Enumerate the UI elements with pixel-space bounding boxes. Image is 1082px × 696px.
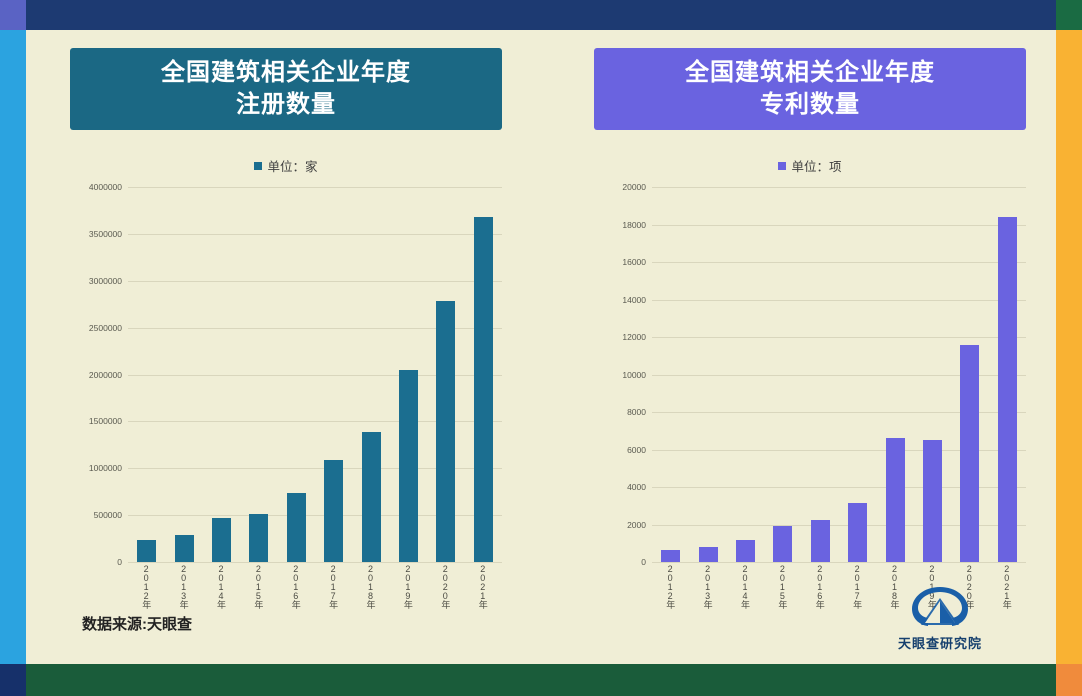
- border-left: [0, 30, 26, 664]
- legend-label: 单位：项: [791, 156, 841, 175]
- bar-slot[interactable]: [915, 187, 950, 562]
- bar-slot[interactable]: [204, 187, 239, 562]
- legend-label: 单位：家: [267, 156, 317, 175]
- corner-bottom-left: [0, 664, 26, 696]
- x-axis-label-slot: 2012年: [653, 564, 688, 622]
- y-axis-tick-label: 0: [117, 557, 122, 567]
- bar-slot[interactable]: [952, 187, 987, 562]
- chart-panel-registrations: 全国建筑相关企业年度 注册数量 单位：家 0500000100000015000…: [70, 48, 502, 648]
- y-axis-tick-label: 4000000: [89, 182, 122, 192]
- x-axis-label-slot: 2020年: [428, 564, 463, 622]
- panel-title-line1: 全国建筑相关企业年度: [161, 57, 411, 89]
- infographic-page: 全国建筑相关企业年度 注册数量 单位：家 0500000100000015000…: [0, 0, 1082, 696]
- y-axis-tick-label: 1500000: [89, 416, 122, 426]
- bar-slot[interactable]: [840, 187, 875, 562]
- bar[interactable]: [212, 518, 231, 562]
- legend-swatch-icon: [778, 162, 786, 170]
- bar[interactable]: [436, 301, 455, 562]
- bar[interactable]: [474, 217, 493, 562]
- gridline: [652, 562, 1026, 563]
- border-top: [0, 0, 1082, 30]
- y-axis-tick-label: 4000: [627, 482, 646, 492]
- y-axis-tick-label: 2000: [627, 520, 646, 530]
- y-axis-tick-label: 2500000: [89, 323, 122, 333]
- plot-area-registrations: 0500000100000015000002000000250000030000…: [70, 187, 502, 572]
- x-axis-label-slot: 2015年: [241, 564, 276, 622]
- x-axis-tick-label: 2017年: [327, 564, 340, 622]
- y-axis-tick-label: 1000000: [89, 463, 122, 473]
- logo: 天眼查研究院: [880, 585, 1000, 652]
- y-axis-tick-label: 10000: [622, 370, 646, 380]
- panel-title-line2: 注册数量: [161, 89, 411, 121]
- y-axis-tick-label: 3500000: [89, 229, 122, 239]
- bar[interactable]: [362, 432, 381, 562]
- bar[interactable]: [399, 370, 418, 562]
- logo-text: 天眼查研究院: [898, 633, 982, 652]
- x-axis-label-slot: 2019年: [391, 564, 426, 622]
- source-note: 数据来源:天眼查: [82, 613, 192, 634]
- bar-series-registrations: [128, 187, 502, 562]
- bar-slot[interactable]: [316, 187, 351, 562]
- x-axis-tick-label: 2016年: [814, 564, 827, 622]
- x-axis-tick-label: 2020年: [439, 564, 452, 622]
- border-bottom: [0, 664, 1082, 696]
- y-axis-labels-registrations: 0500000100000015000002000000250000030000…: [70, 187, 126, 562]
- corner-top-right: [1056, 0, 1082, 30]
- y-axis-tick-label: 0: [641, 557, 646, 567]
- bar-slot[interactable]: [728, 187, 763, 562]
- bar[interactable]: [249, 514, 268, 562]
- bar[interactable]: [287, 493, 306, 562]
- legend-swatch-icon: [254, 162, 262, 170]
- x-axis-label-slot: 2018年: [353, 564, 388, 622]
- y-axis-tick-label: 6000: [627, 445, 646, 455]
- bar[interactable]: [811, 520, 830, 562]
- x-axis-tick-label: 2019年: [402, 564, 415, 622]
- bar-slot[interactable]: [765, 187, 800, 562]
- x-axis-label-slot: 2021年: [466, 564, 501, 622]
- x-axis-tick-label: 2014年: [739, 564, 752, 622]
- panel-title-registrations: 全国建筑相关企业年度 注册数量: [70, 48, 502, 130]
- x-axis-tick-label: 2018年: [365, 564, 378, 622]
- chart-panel-patents: 全国建筑相关企业年度 专利数量 单位：项 0200040006000800010…: [594, 48, 1026, 648]
- x-axis-label-slot: 2014年: [728, 564, 763, 622]
- bar-series-patents: [652, 187, 1026, 562]
- bar[interactable]: [137, 540, 156, 562]
- content-canvas: 全国建筑相关企业年度 注册数量 单位：家 0500000100000015000…: [26, 30, 1056, 664]
- y-axis-tick-label: 3000000: [89, 276, 122, 286]
- bar[interactable]: [886, 438, 905, 562]
- bar[interactable]: [175, 535, 194, 562]
- y-axis-tick-label: 18000: [622, 220, 646, 230]
- border-right: [1056, 30, 1082, 664]
- bar[interactable]: [699, 547, 718, 562]
- y-axis-tick-label: 8000: [627, 407, 646, 417]
- x-axis-tick-label: 2021年: [477, 564, 490, 622]
- bar-slot[interactable]: [167, 187, 202, 562]
- corner-bottom-right: [1056, 664, 1082, 696]
- bar-slot[interactable]: [990, 187, 1025, 562]
- bar[interactable]: [773, 526, 792, 562]
- bar-slot[interactable]: [653, 187, 688, 562]
- panel-title-patents: 全国建筑相关企业年度 专利数量: [594, 48, 1026, 130]
- x-axis-label-slot: 2014年: [204, 564, 239, 622]
- bar[interactable]: [923, 440, 942, 562]
- x-axis-tick-label: 2021年: [1001, 564, 1014, 622]
- x-axis-tick-label: 2017年: [851, 564, 864, 622]
- x-axis-tick-label: 2012年: [664, 564, 677, 622]
- gridline: [128, 562, 502, 563]
- y-axis-tick-label: 20000: [622, 182, 646, 192]
- x-axis-label-slot: 2016年: [803, 564, 838, 622]
- chart-legend-registrations: 单位：家: [70, 156, 502, 175]
- bar-slot[interactable]: [129, 187, 164, 562]
- x-axis-tick-label: 2016年: [290, 564, 303, 622]
- bar-slot[interactable]: [241, 187, 276, 562]
- corner-top-left: [0, 0, 26, 30]
- bar[interactable]: [960, 345, 979, 563]
- x-axis-tick-label: 2013年: [702, 564, 715, 622]
- plot-area-patents: 0200040006000800010000120001400016000180…: [594, 187, 1026, 572]
- x-axis-label-slot: 2015年: [765, 564, 800, 622]
- bar[interactable]: [324, 460, 343, 562]
- y-axis-tick-label: 14000: [622, 295, 646, 305]
- y-axis-tick-label: 500000: [94, 510, 122, 520]
- panel-title-line1: 全国建筑相关企业年度: [685, 57, 935, 89]
- x-axis-label-slot: 2013年: [691, 564, 726, 622]
- y-axis-tick-label: 16000: [622, 257, 646, 267]
- bar-slot[interactable]: [279, 187, 314, 562]
- x-axis-label-slot: 2017年: [840, 564, 875, 622]
- chart-legend-patents: 单位：项: [594, 156, 1026, 175]
- bar-slot[interactable]: [466, 187, 501, 562]
- x-axis-label-slot: 2016年: [279, 564, 314, 622]
- bar[interactable]: [848, 503, 867, 562]
- x-axis-tick-label: 2014年: [215, 564, 228, 622]
- y-axis-tick-label: 12000: [622, 332, 646, 342]
- bar-slot[interactable]: [803, 187, 838, 562]
- bar-slot[interactable]: [391, 187, 426, 562]
- bar-slot[interactable]: [428, 187, 463, 562]
- panel-title-line2: 专利数量: [685, 89, 935, 121]
- bar[interactable]: [736, 540, 755, 562]
- tianyancha-arch-icon: [909, 585, 971, 632]
- bar[interactable]: [661, 550, 680, 562]
- bar-slot[interactable]: [353, 187, 388, 562]
- x-axis-label-slot: 2017年: [316, 564, 351, 622]
- bar-slot[interactable]: [877, 187, 912, 562]
- bar[interactable]: [998, 217, 1017, 562]
- y-axis-tick-label: 2000000: [89, 370, 122, 380]
- bar-slot[interactable]: [691, 187, 726, 562]
- y-axis-labels-patents: 0200040006000800010000120001400016000180…: [594, 187, 650, 562]
- x-axis-tick-label: 2015年: [776, 564, 789, 622]
- x-axis-tick-label: 2015年: [252, 564, 265, 622]
